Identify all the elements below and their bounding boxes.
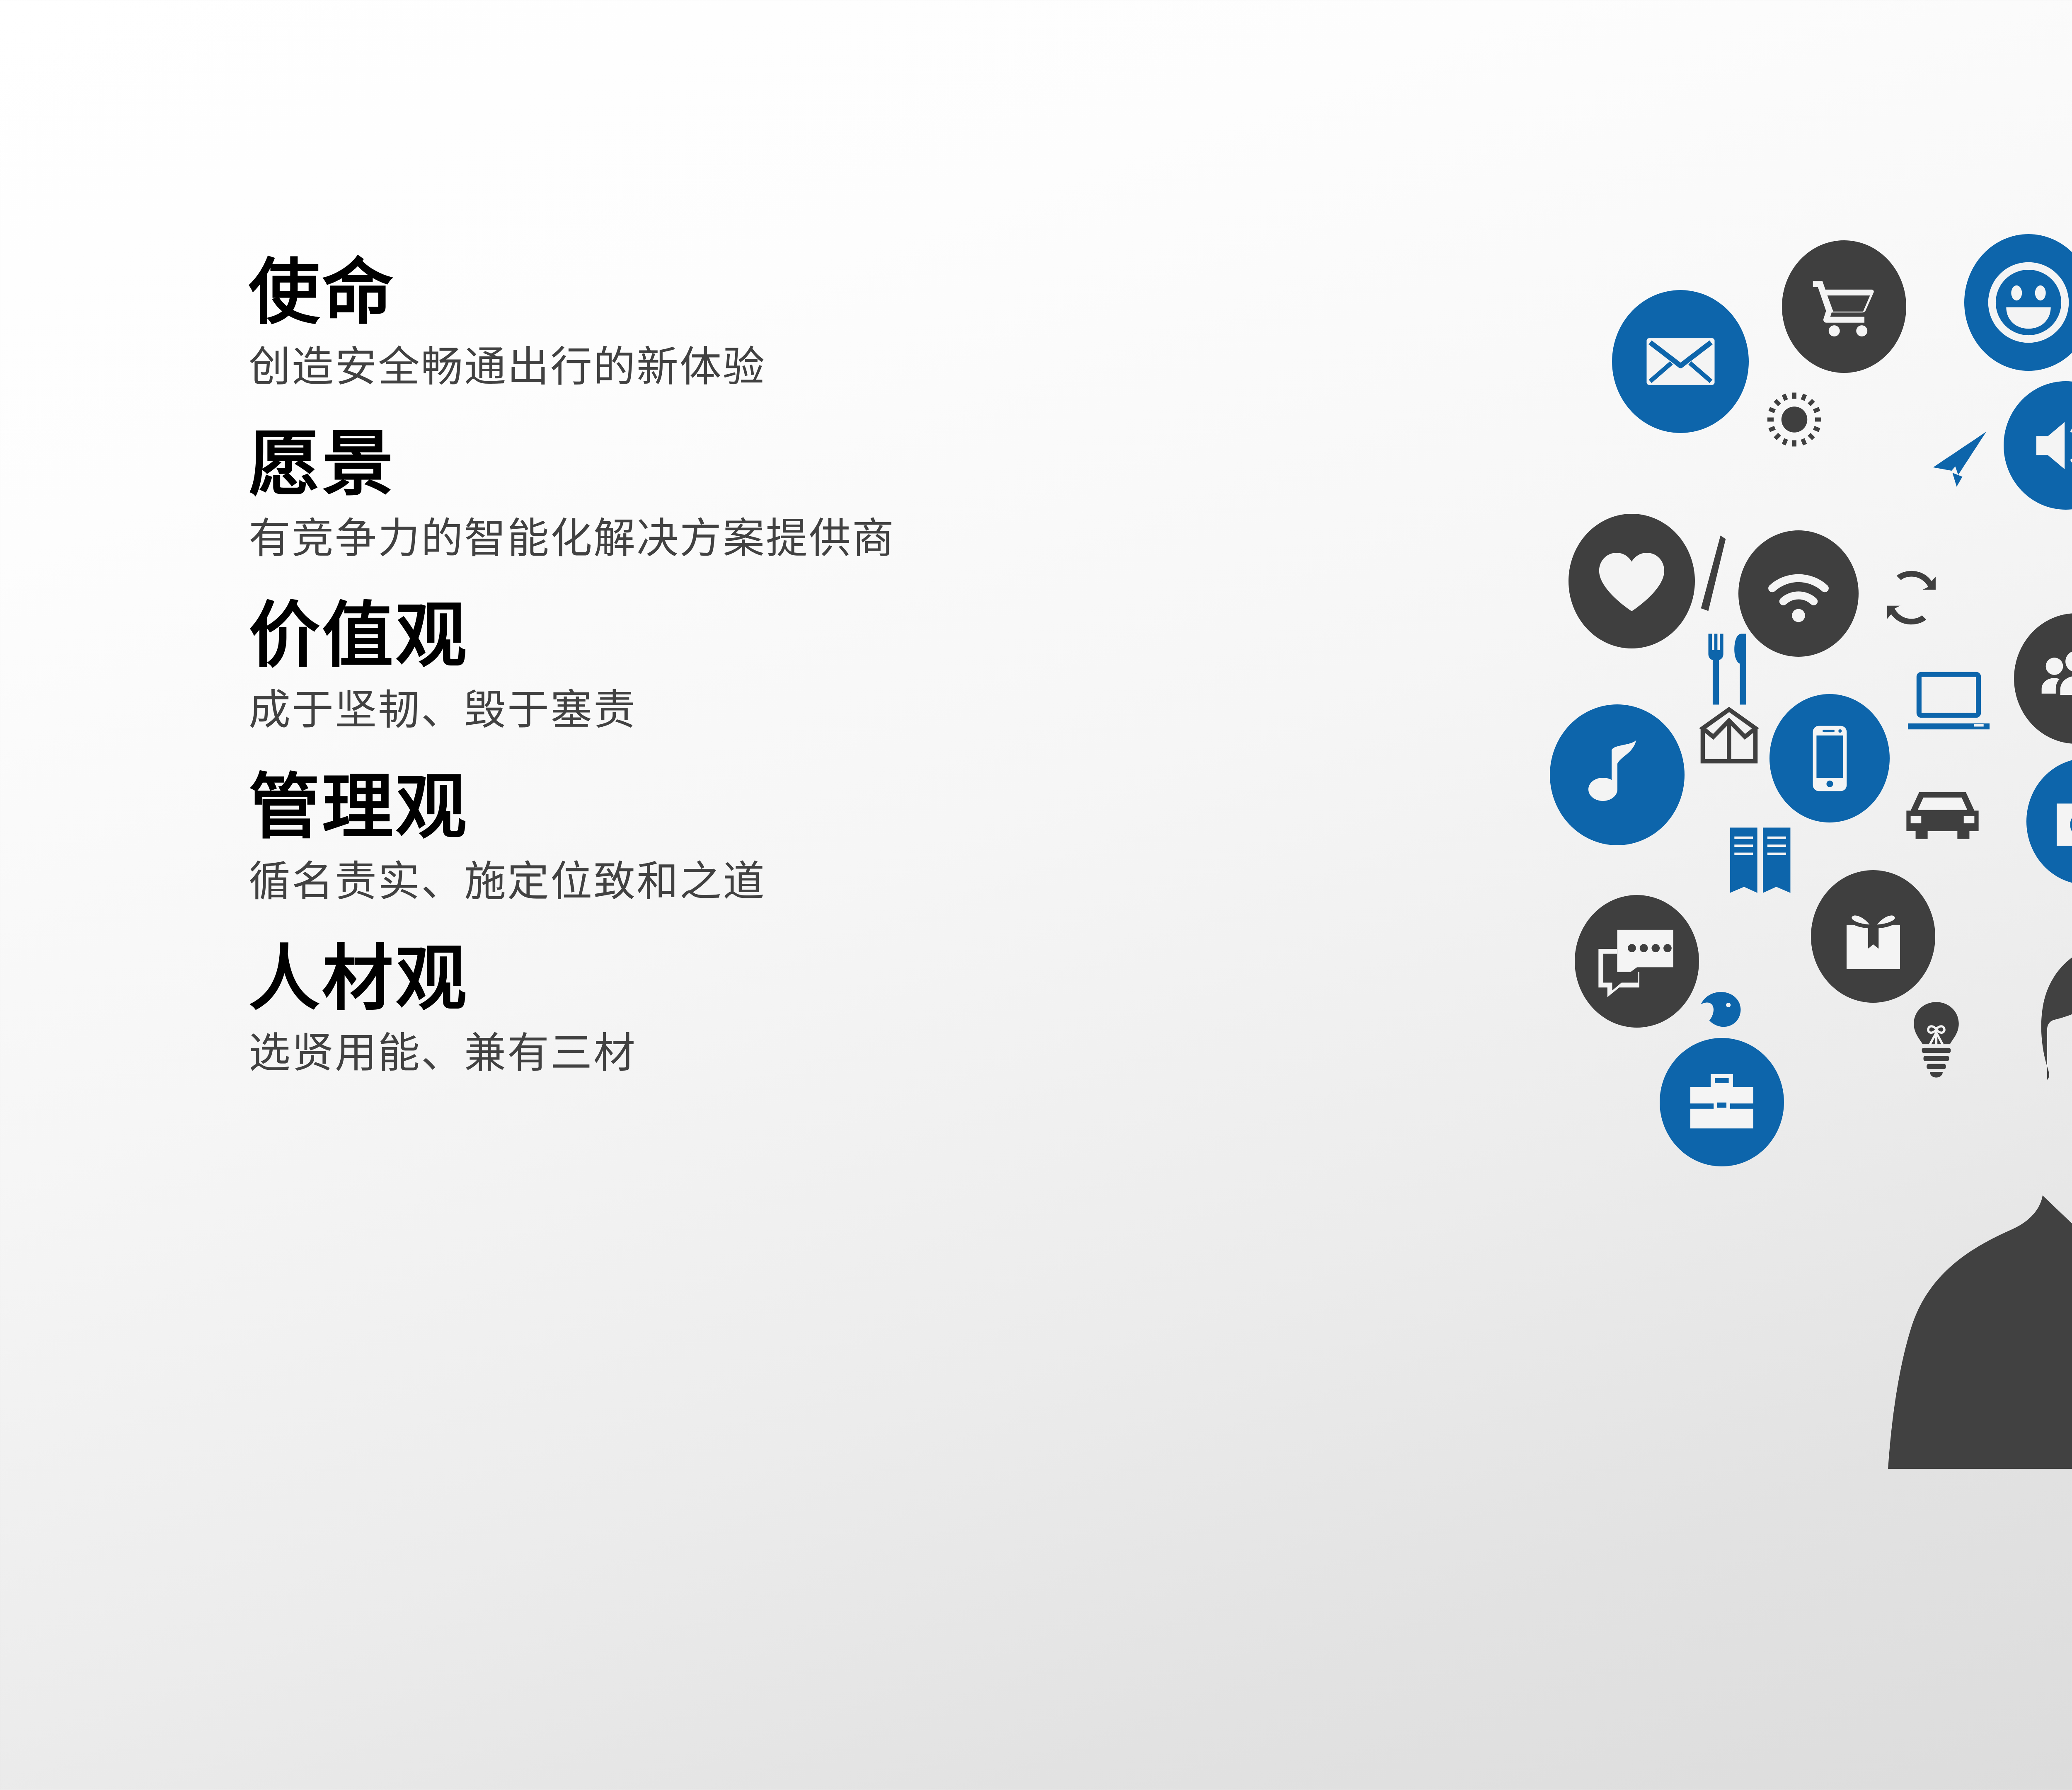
value-block-talent: 人材观 选贤用能、兼有三材	[249, 943, 1326, 1074]
value-subtitle: 成于坚韧、毁于塞责	[249, 689, 1326, 731]
briefcase-icon	[1660, 1038, 1784, 1166]
value-heading: 管理观	[249, 772, 1326, 843]
box-icon	[1693, 702, 1765, 771]
smartphone-icon	[1769, 694, 1890, 822]
value-block-values: 价值观 成于坚韧、毁于塞责	[249, 600, 1326, 731]
envelope-icon	[1612, 290, 1749, 433]
sun-icon	[1763, 387, 1825, 452]
value-subtitle: 选贤用能、兼有三材	[249, 1033, 1326, 1074]
core-values-list: 使命 创造安全畅通出行的新体验 愿景 有竞争力的智能化解决方案提供商 价值观 成…	[249, 257, 1326, 1115]
paper-plane-icon	[1923, 421, 1995, 497]
value-block-vision: 愿景 有竞争力的智能化解决方案提供商	[249, 428, 1326, 560]
value-heading: 使命	[249, 257, 1326, 328]
heart-icon	[1569, 514, 1695, 648]
value-subtitle: 有竞争力的智能化解决方案提供商	[249, 518, 1326, 560]
people-group-icon	[2014, 613, 2072, 744]
shopping-cart-icon	[1782, 240, 1906, 373]
refresh-icon	[1877, 564, 1946, 632]
value-subtitle: 创造安全畅通出行的新体验	[249, 346, 1326, 388]
value-block-mission: 使命 创造安全畅通出行的新体验	[249, 257, 1326, 388]
person-silhouette	[1881, 936, 2072, 1475]
camera-icon	[2026, 758, 2072, 885]
book-icon	[1724, 820, 1796, 903]
smiley-face-icon	[1964, 234, 2072, 371]
value-heading: 价值观	[249, 600, 1326, 671]
value-heading: 人材观	[249, 943, 1326, 1014]
twitter-bird-icon	[1678, 980, 1749, 1044]
value-block-management: 管理观 循名责实、施定位致和之道	[249, 772, 1326, 903]
pen-icon	[1695, 530, 1732, 626]
value-subtitle: 循名责实、施定位致和之道	[249, 861, 1326, 903]
car-icon	[1900, 783, 1985, 849]
fork-knife-icon	[1695, 630, 1761, 709]
slide-canvas: 使命 创造安全畅通出行的新体验 愿景 有竞争力的智能化解决方案提供商 价值观 成…	[0, 0, 2072, 1790]
value-heading: 愿景	[249, 428, 1326, 500]
laptop-icon	[1904, 669, 1993, 738]
speaker-volume-icon	[2004, 381, 2072, 510]
music-note-icon	[1550, 704, 1685, 845]
